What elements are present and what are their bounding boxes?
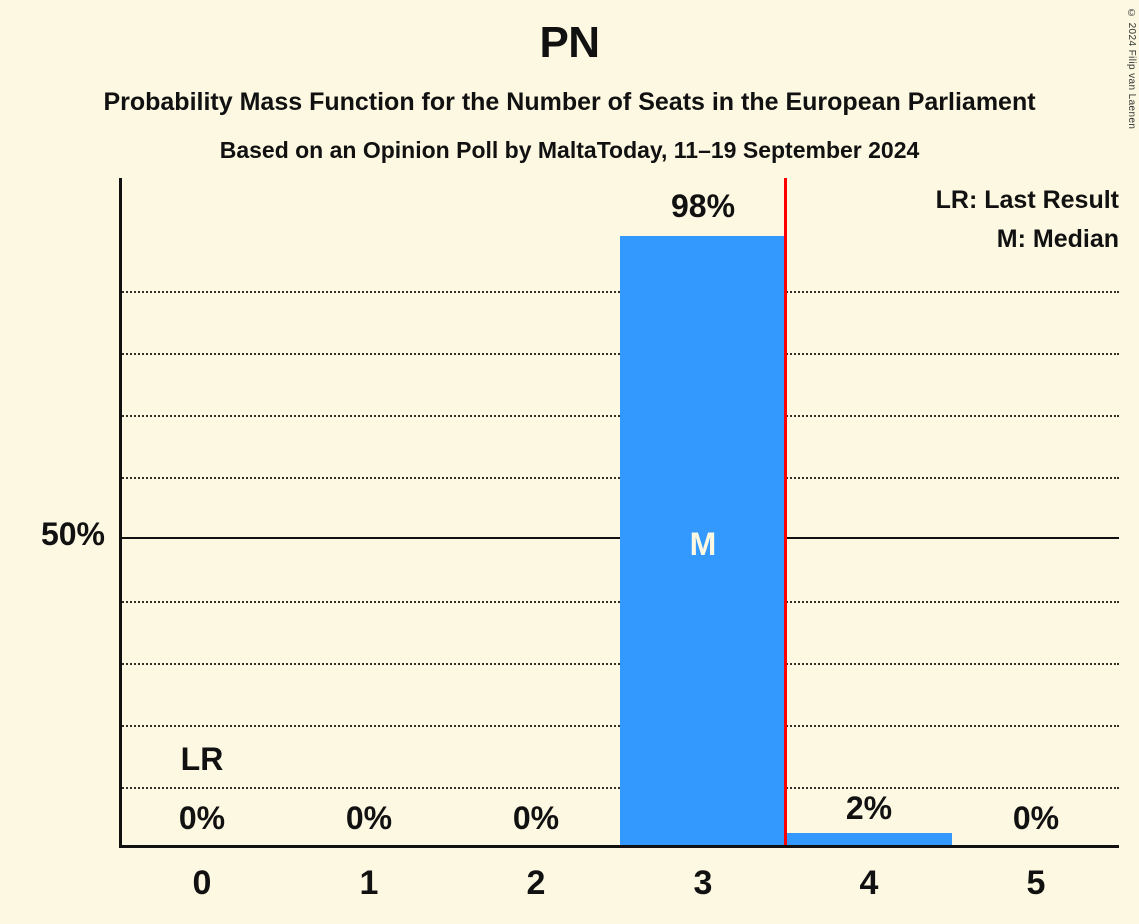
- value-label-3: 98%: [620, 188, 786, 225]
- page-title: PN: [0, 18, 1139, 68]
- x-axis-tick-3: 3: [620, 864, 786, 903]
- gridline-40: [119, 601, 1119, 603]
- median-line: [784, 178, 787, 848]
- chart-canvas: PN Probability Mass Function for the Num…: [0, 0, 1139, 924]
- x-axis-tick-1: 1: [286, 864, 452, 903]
- x-axis-line: [119, 845, 1119, 848]
- gridline-90: [119, 291, 1119, 293]
- chart-subsubtitle: Based on an Opinion Poll by MaltaToday, …: [0, 137, 1139, 164]
- gridline-70: [119, 415, 1119, 417]
- median-marker: M: [620, 526, 786, 563]
- last-result-marker: LR: [119, 741, 285, 778]
- gridline-80: [119, 353, 1119, 355]
- gridline-30: [119, 663, 1119, 665]
- copyright-notice: © 2024 Filip van Laenen: [1126, 8, 1137, 129]
- legend-last-result: LR: Last Result: [936, 186, 1119, 215]
- x-axis-tick-0: 0: [119, 864, 285, 903]
- gridline-60: [119, 477, 1119, 479]
- gridline-10: [119, 787, 1119, 789]
- x-axis-tick-5: 5: [953, 864, 1119, 903]
- value-label-4: 2%: [786, 790, 952, 827]
- value-label-1: 0%: [286, 800, 452, 837]
- value-label-0: 0%: [119, 800, 285, 837]
- gridline-50-major: [119, 537, 1119, 539]
- value-label-5: 0%: [953, 800, 1119, 837]
- x-axis-tick-4: 4: [786, 864, 952, 903]
- legend-median: M: Median: [997, 225, 1119, 254]
- value-label-2: 0%: [453, 800, 619, 837]
- plot-area: 0% 0% 0% 98% 2% 0% M LR LR: Last Result …: [119, 178, 1119, 848]
- y-axis-tick-50: 50%: [0, 516, 105, 553]
- x-axis-tick-2: 2: [453, 864, 619, 903]
- chart-subtitle: Probability Mass Function for the Number…: [0, 88, 1139, 117]
- bar-4: [786, 833, 952, 845]
- gridline-20: [119, 725, 1119, 727]
